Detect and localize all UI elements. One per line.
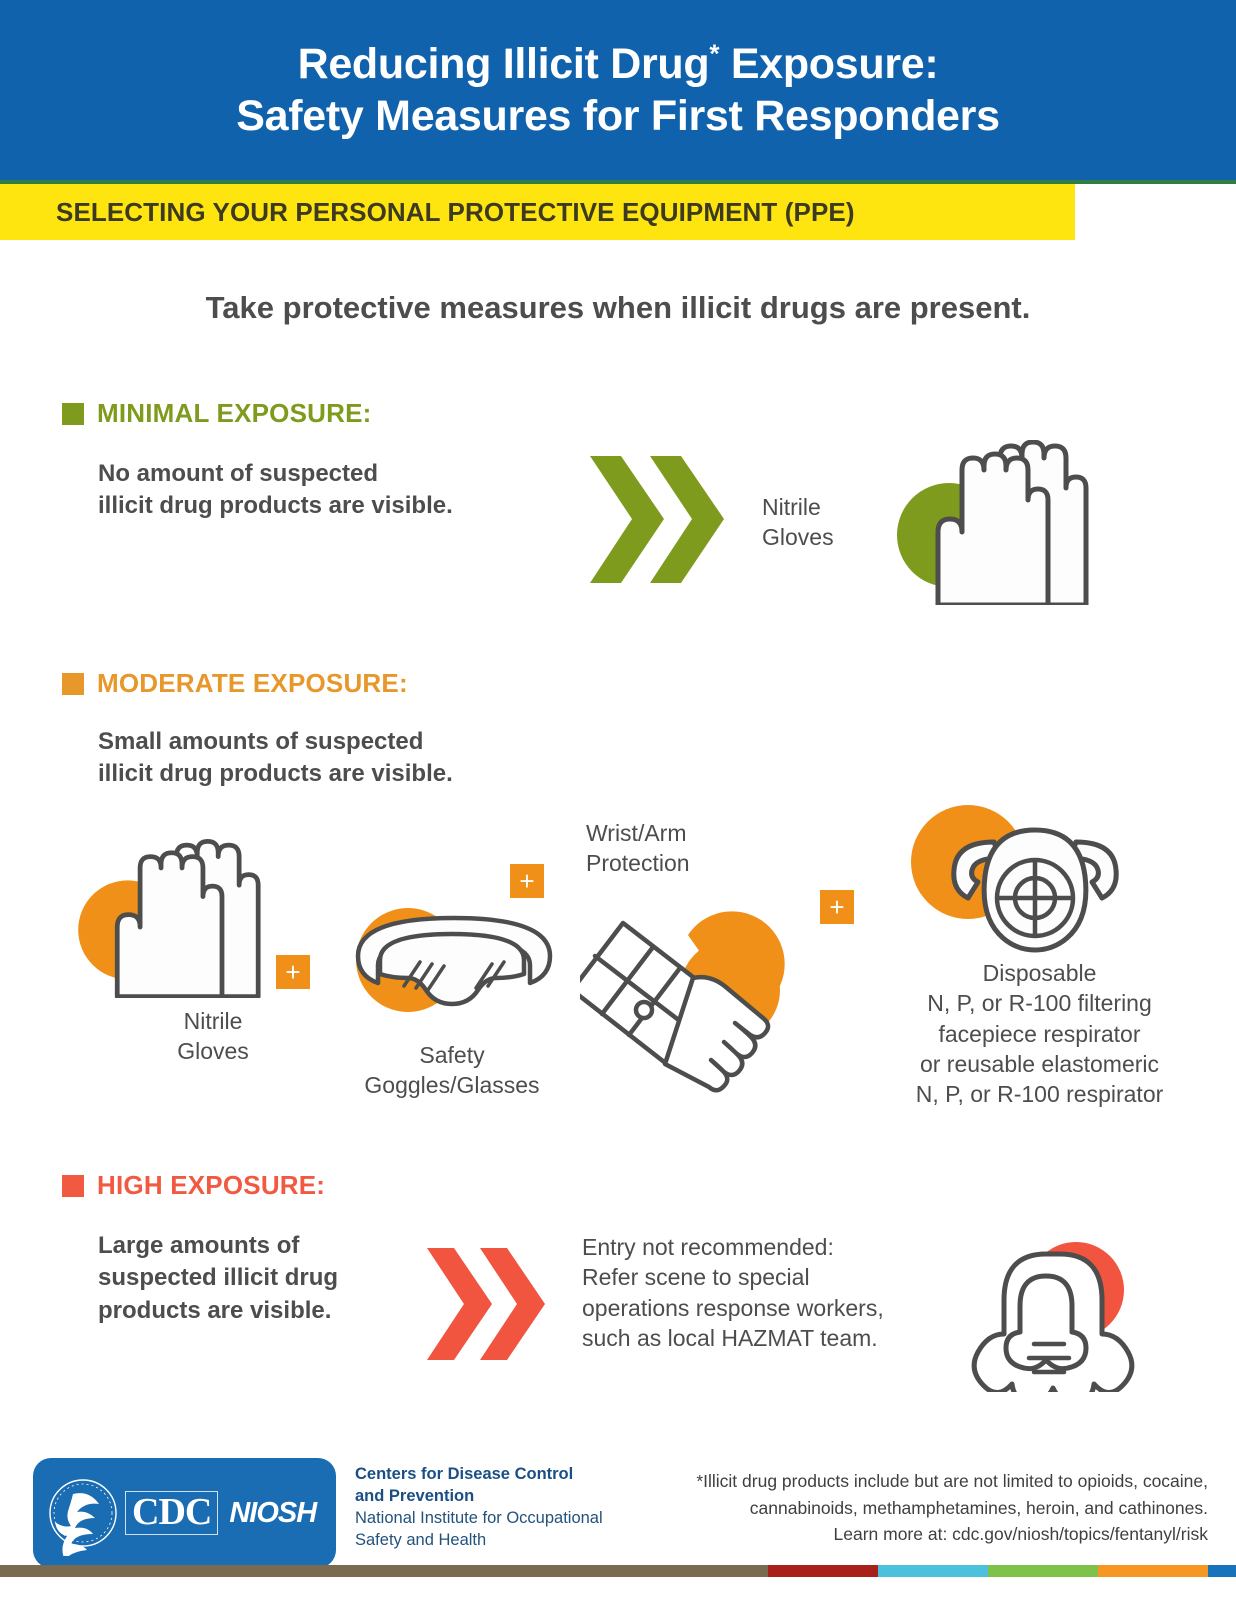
agency-name: Centers for Disease Control and Preventi… [355, 1464, 605, 1552]
caption-line2: Protection [586, 850, 690, 876]
footer-swatch-blue [1208, 1565, 1236, 1577]
square-swatch-icon [62, 673, 84, 695]
caption-respirator: Disposable N, P, or R-100 filtering face… [902, 958, 1177, 1110]
square-swatch-icon [62, 1175, 84, 1197]
page-header: Reducing Illicit Drug* Exposure: Safety … [0, 0, 1236, 180]
section-label-high: HIGH EXPOSURE: [97, 1170, 325, 1201]
moderate-desc-line1: Small amounts of suspected [98, 728, 423, 755]
agency-line4: Safety and Health [355, 1531, 486, 1549]
section-description-moderate: Small amounts of suspected illicit drug … [98, 726, 568, 791]
caption-line2: Goggles/Glasses [364, 1072, 539, 1098]
page-title-line2: Safety Measures for First Responders [236, 92, 999, 140]
ppe-banner-label: SELECTING YOUR PERSONAL PROTECTIVE EQUIP… [56, 197, 855, 228]
section-header-minimal: MINIMAL EXPOSURE: [62, 398, 372, 429]
cdc-niosh-logo: CDC NIOSH [33, 1458, 336, 1568]
plus-label: + [519, 868, 534, 894]
page-title: Reducing Illicit Drug* Exposure: Safety … [236, 38, 999, 143]
caption-line2: N, P, or R-100 filtering [927, 990, 1152, 1016]
footnote: *Illicit drug products include but are n… [588, 1468, 1208, 1548]
footer-swatch-red [768, 1565, 878, 1577]
wrist-arm-protection-icon [580, 890, 820, 1105]
cdc-box: CDC [125, 1491, 218, 1534]
plus-badge-2: + [510, 864, 544, 898]
section-label-moderate: MODERATE EXPOSURE: [97, 668, 408, 699]
high-exposure-advice: Entry not recommended: Refer scene to sp… [582, 1232, 982, 1353]
caption-line1: Disposable [983, 960, 1097, 986]
nitrile-gloves-icon [880, 440, 1090, 605]
double-chevron-green-icon [588, 452, 736, 587]
asterisk-marker: * [709, 38, 719, 68]
ppe-banner: SELECTING YOUR PERSONAL PROTECTIVE EQUIP… [0, 184, 1075, 240]
advice-line4: such as local HAZMAT team. [582, 1325, 878, 1351]
section-description-minimal: No amount of suspected illicit drug prod… [98, 458, 568, 523]
caption-line4: or reusable elastomeric [920, 1051, 1159, 1077]
high-desc-line3: products are visible. [98, 1297, 331, 1324]
agency-line1: Centers for Disease Control [355, 1465, 573, 1483]
minimal-desc-line1: No amount of suspected [98, 460, 378, 487]
plus-label: + [285, 959, 300, 985]
caption-safety-goggles: Safety Goggles/Glasses [332, 1040, 572, 1101]
footnote-line1: *Illicit drug products include but are n… [696, 1471, 1208, 1491]
safety-goggles-icon [336, 898, 566, 1028]
plus-badge-3: + [820, 890, 854, 924]
caption-line1: Nitrile [184, 1008, 243, 1034]
agency-line2: and Prevention [355, 1487, 474, 1505]
plus-badge-1: + [276, 955, 310, 989]
page-title-line1-tail: Exposure: [719, 40, 938, 88]
minimal-desc-line2: illicit drug products are visible. [98, 492, 453, 519]
footnote-line2: cannabinoids, methamphetamines, heroin, … [750, 1498, 1208, 1518]
advice-line3: operations response workers, [582, 1295, 884, 1321]
square-swatch-icon [62, 403, 84, 425]
page-title-line1: Reducing Illicit Drug [298, 40, 710, 88]
caption-line1: Safety [419, 1042, 484, 1068]
caption-line2: Gloves [762, 524, 834, 550]
plus-label: + [829, 894, 844, 920]
hhs-seal-icon [47, 1470, 119, 1556]
section-label-minimal: MINIMAL EXPOSURE: [97, 398, 372, 429]
hazmat-hood-icon [960, 1232, 1145, 1392]
caption-nitrile-gloves-moderate: Nitrile Gloves [118, 1006, 308, 1067]
respirator-icon [890, 782, 1190, 962]
advice-line2: Refer scene to special [582, 1264, 810, 1290]
footnote-link[interactable]: Learn more at: cdc.gov/niosh/topics/fent… [834, 1524, 1209, 1544]
agency-line3: National Institute for Occupational [355, 1509, 603, 1527]
caption-line3: facepiece respirator [939, 1021, 1141, 1047]
section-header-high: HIGH EXPOSURE: [62, 1170, 325, 1201]
caption-wrist-arm-protection: Wrist/Arm Protection [586, 818, 806, 879]
footer-swatch-orange [1098, 1565, 1208, 1577]
cdc-text: CDC [132, 1494, 211, 1530]
caption-line1: Nitrile [762, 494, 821, 520]
double-chevron-red-icon [425, 1245, 555, 1363]
niosh-text: NIOSH [229, 1497, 316, 1530]
section-header-moderate: MODERATE EXPOSURE: [62, 668, 408, 699]
high-desc-line1: Large amounts of [98, 1232, 299, 1259]
caption-line5: N, P, or R-100 respirator [916, 1081, 1164, 1107]
moderate-desc-line2: illicit drug products are visible. [98, 760, 453, 787]
cdc-wordmark: CDC NIOSH [125, 1491, 316, 1534]
advice-line1: Entry not recommended: [582, 1234, 834, 1260]
caption-line2: Gloves [177, 1038, 249, 1064]
caption-line1: Wrist/Arm [586, 820, 687, 846]
footer-swatch-green [988, 1565, 1098, 1577]
lead-statement: Take protective measures when illicit dr… [0, 290, 1236, 326]
caption-nitrile-gloves-minimal: Nitrile Gloves [762, 492, 892, 553]
nitrile-gloves-icon [62, 838, 262, 998]
footer-swatch-cyan [878, 1565, 988, 1577]
section-description-high: Large amounts of suspected illicit drug … [98, 1230, 438, 1327]
high-desc-line2: suspected illicit drug [98, 1264, 338, 1291]
